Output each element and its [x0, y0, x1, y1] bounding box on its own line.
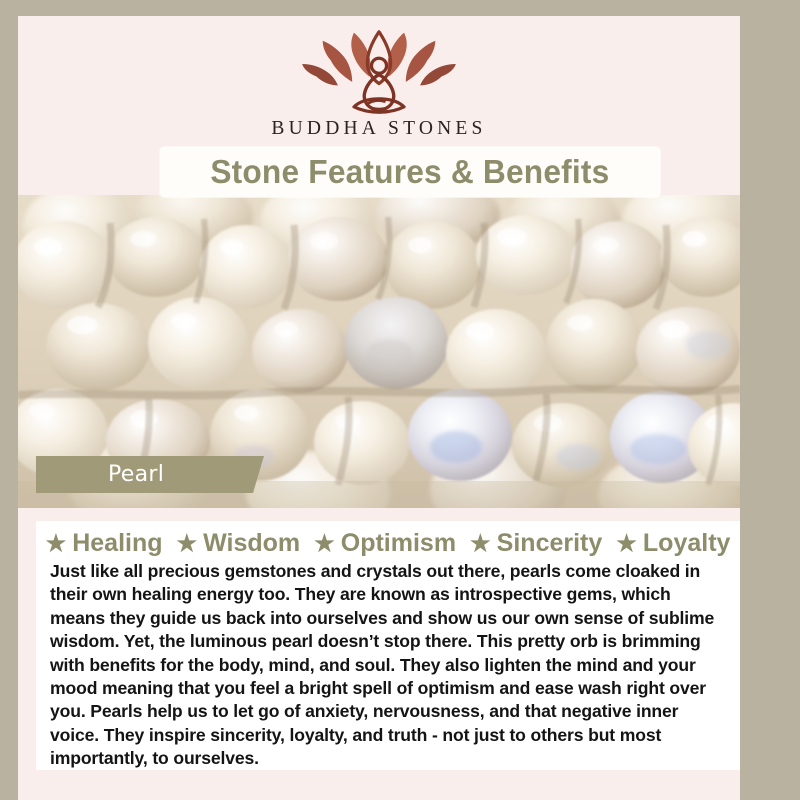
content-card: ★ Healing ★ Wisdom ★ Optimism ★ Sincerit… — [36, 521, 740, 770]
star-icon: ★ — [314, 532, 335, 555]
stone-name-badge: Pearl — [36, 456, 264, 493]
benefit-item-optimism: ★ Optimism — [314, 529, 456, 558]
benefit-label: Loyalty — [643, 529, 731, 558]
benefit-label: Healing — [72, 529, 162, 558]
benefit-item-wisdom: ★ Wisdom — [177, 529, 301, 558]
stone-description: Just like all precious gemstones and cry… — [50, 560, 726, 771]
star-icon: ★ — [177, 532, 198, 555]
frame-band-left — [0, 16, 18, 800]
benefit-item-healing: ★ Healing — [46, 529, 163, 558]
section-title-banner: Stone Features & Benefits — [160, 147, 660, 197]
benefit-label: Optimism — [341, 529, 456, 558]
benefit-label: Sincerity — [497, 529, 603, 558]
brand-name: BUDDHA STONES — [271, 118, 486, 140]
page-title: Stone Features & Benefits — [210, 153, 609, 191]
benefits-list: ★ Healing ★ Wisdom ★ Optimism ★ Sincerit… — [50, 529, 726, 558]
star-icon: ★ — [470, 532, 491, 555]
poster-page: BUDDHA STONES — [18, 16, 740, 800]
brand-logo: BUDDHA STONES — [18, 16, 740, 162]
star-icon: ★ — [46, 532, 67, 555]
benefit-label: Wisdom — [203, 529, 300, 558]
stone-name-label: Pearl — [36, 462, 164, 487]
benefit-item-sincerity: ★ Sincerity — [470, 529, 602, 558]
frame-band-right — [740, 0, 800, 800]
lotus-meditation-icon — [289, 30, 469, 114]
frame-band-top — [0, 0, 800, 16]
star-icon: ★ — [616, 532, 637, 555]
benefit-item-loyalty: ★ Loyalty — [616, 529, 730, 558]
